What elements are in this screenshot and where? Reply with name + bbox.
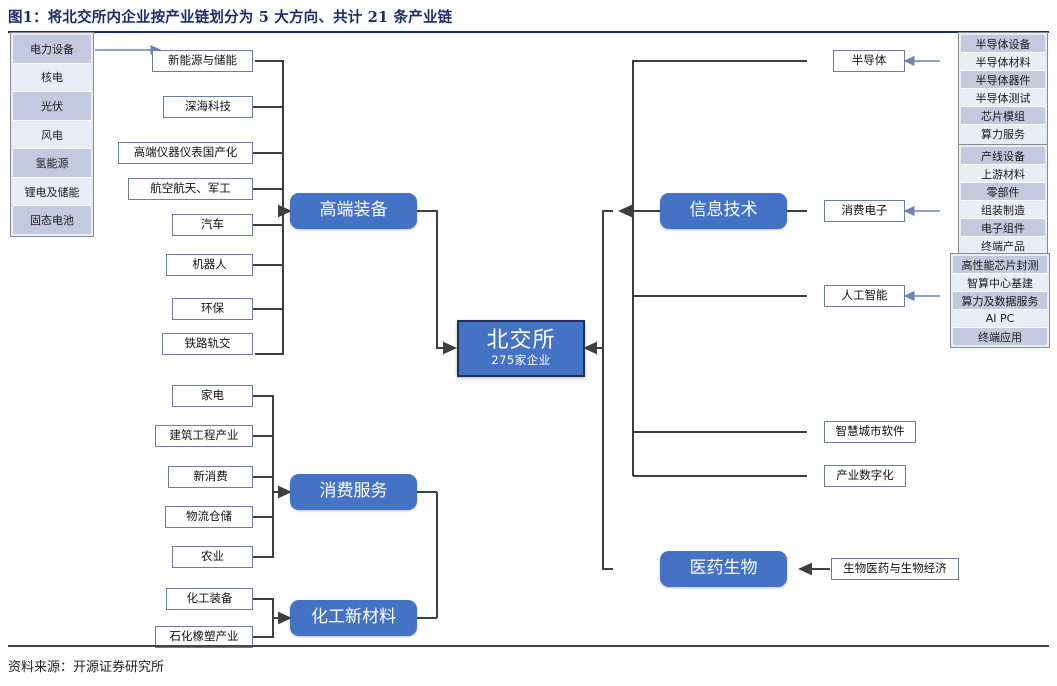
chain-node-logistics-warehousing[interactable]: 物流仓储 [165,506,253,528]
chain-node-aerospace-defense[interactable]: 航空航天、军工 [128,178,253,200]
diagram-canvas: 电力设备 核电 光伏 风电 氢能源 锂电及储能 固态电池 新能源与储能 深海科技… [0,34,1057,644]
chain-node-new-energy-storage[interactable]: 新能源与储能 [152,50,253,72]
source-note: 资料来源：开源证券研究所 [8,656,164,675]
stack-item: 上游材料 [961,165,1045,183]
hub-beijing-stock-exchange[interactable]: 北交所 275家企业 [457,320,585,377]
chain-node-construction-engineering[interactable]: 建筑工程产业 [155,425,253,447]
stack-artificial-intelligence: 高性能芯片封测 智算中心基建 算力及数据服务 AI PC 终端应用 [950,253,1050,348]
stack-item: 终端应用 [953,328,1047,345]
chain-node-automobile[interactable]: 汽车 [172,214,253,236]
chain-node-robotics[interactable]: 机器人 [166,254,253,276]
chain-node-industrial-digitalization[interactable]: 产业数字化 [824,465,906,487]
stack-item: 产线设备 [961,147,1045,165]
page-title: 图1：将北交所内企业按产业链划分为 5 大方向、共计 21 条产业链 [8,6,452,27]
stack-item: 核电 [13,64,91,93]
chain-node-rail-transit[interactable]: 铁路轨交 [162,333,253,355]
chain-node-agriculture[interactable]: 农业 [172,546,253,568]
chain-node-high-end-instruments[interactable]: 高端仪器仪表国产化 [118,142,253,164]
direction-high-end-equipment[interactable]: 高端装备 [290,193,417,229]
direction-chemical-new-materials[interactable]: 化工新材料 [290,600,417,636]
title-divider [8,31,1049,33]
direction-consumer-services[interactable]: 消费服务 [290,474,417,510]
stack-item: 电力设备 [13,35,91,64]
direction-pharma-bio[interactable]: 医药生物 [660,551,787,587]
chain-node-chemical-equipment[interactable]: 化工装备 [166,588,253,610]
chain-node-deep-sea-tech[interactable]: 深海科技 [163,96,253,118]
figure-root: 图1：将北交所内企业按产业链划分为 5 大方向、共计 21 条产业链 [0,0,1057,686]
stack-item: 算力服务 [961,125,1045,142]
stack-item: 风电 [13,121,91,150]
stack-item: 半导体材料 [961,53,1045,71]
stack-item: 氢能源 [13,149,91,178]
stack-item: 智算中心基建 [953,274,1047,292]
stack-item: 算力及数据服务 [953,292,1047,310]
chain-node-smart-city-software[interactable]: 智慧城市软件 [824,421,916,443]
stack-item: 高性能芯片封测 [953,256,1047,274]
stack-item: 锂电及储能 [13,178,91,207]
footer-divider [8,645,1049,647]
chain-node-semiconductor[interactable]: 半导体 [833,50,905,72]
stack-consumer-electronics: 产线设备 上游材料 零部件 组装制造 电子组件 终端产品 [958,144,1048,257]
hub-title: 北交所 [486,329,555,353]
stack-new-energy-storage: 电力设备 核电 光伏 风电 氢能源 锂电及储能 固态电池 [10,32,94,237]
stack-semiconductor: 半导体设备 半导体材料 半导体器件 半导体测试 芯片模组 算力服务 [958,32,1048,145]
stack-item: 零部件 [961,183,1045,201]
hub-subtitle: 275家企业 [491,354,550,367]
chain-node-home-appliance[interactable]: 家电 [172,385,253,407]
chain-node-biopharma-bioeconomy[interactable]: 生物医药与生物经济 [831,558,959,580]
chain-node-consumer-electronics[interactable]: 消费电子 [824,200,905,222]
stack-item: AI PC [953,310,1047,328]
stack-item: 光伏 [13,92,91,121]
stack-item: 固态电池 [13,206,91,234]
chain-node-artificial-intelligence[interactable]: 人工智能 [824,285,905,307]
chain-node-new-consumption[interactable]: 新消费 [168,466,253,488]
stack-item: 半导体测试 [961,89,1045,107]
chain-node-environmental[interactable]: 环保 [172,298,253,320]
stack-item: 半导体器件 [961,71,1045,89]
stack-item: 终端产品 [961,237,1045,254]
direction-information-technology[interactable]: 信息技术 [660,193,787,229]
stack-item: 半导体设备 [961,35,1045,53]
stack-item: 芯片模组 [961,107,1045,125]
stack-item: 组装制造 [961,201,1045,219]
stack-item: 电子组件 [961,219,1045,237]
